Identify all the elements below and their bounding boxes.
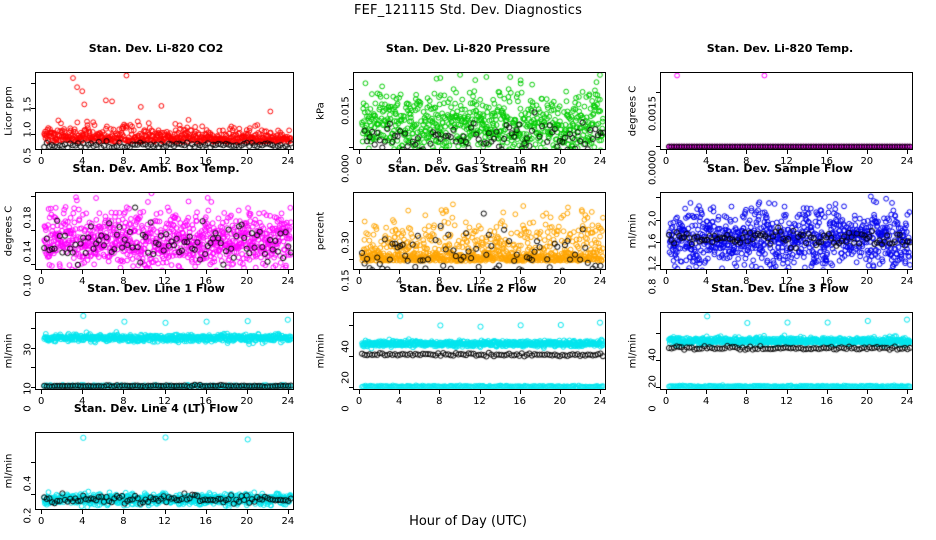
panel-line4-lt-flow: Stan. Dev. Line 4 (LT) Flow048121620240.… xyxy=(0,388,312,508)
y-tick-label: 2.0 xyxy=(648,196,659,240)
x-tick-mark xyxy=(907,390,908,394)
y-axis-label-sample-flow: ml/min xyxy=(628,214,639,249)
x-tick-label: 8 xyxy=(419,396,459,407)
x-tick-label: 24 xyxy=(580,396,620,407)
scatter-points-line4-lt-flow xyxy=(36,433,294,510)
y-axis-label-line1-flow: ml/min xyxy=(4,334,15,369)
panel-li820-co2: Stan. Dev. Li-820 CO2048121620240.51.01.… xyxy=(0,28,312,148)
panel-title-li820-temp: Stan. Dev. Li-820 Temp. xyxy=(624,42,936,55)
x-tick-mark xyxy=(867,390,868,394)
y-tick-label: 0.30 xyxy=(341,220,352,264)
x-tick-mark xyxy=(600,390,601,394)
panel-title-line1-flow: Stan. Dev. Line 1 Flow xyxy=(0,282,312,295)
panel-amb-box-temp: Stan. Dev. Amb. Box Temp.048121620240.10… xyxy=(0,148,312,268)
y-tick-label: 40 xyxy=(341,325,352,369)
plot-area-line2-flow xyxy=(353,312,606,390)
panel-title-li820-pressure: Stan. Dev. Li-820 Pressure xyxy=(312,42,624,55)
x-tick-mark xyxy=(706,390,707,394)
panel-title-line3-flow: Stan. Dev. Line 3 Flow xyxy=(624,282,936,295)
x-tick-label: 4 xyxy=(686,396,726,407)
x-tick-mark xyxy=(399,390,400,394)
x-tick-mark xyxy=(787,390,788,394)
figure-title: FEF_121115 Std. Dev. Diagnostics xyxy=(0,3,936,18)
panel-title-line2-flow: Stan. Dev. Line 2 Flow xyxy=(312,282,624,295)
scatter-points-amb-box-temp xyxy=(36,193,294,270)
panel-line2-flow: Stan. Dev. Line 2 Flow0481216202402040ml… xyxy=(312,268,624,388)
panel-line1-flow: Stan. Dev. Line 1 Flow0481216202401030ml… xyxy=(0,268,312,388)
plot-area-amb-box-temp xyxy=(35,192,294,270)
x-tick-label: 20 xyxy=(847,396,887,407)
y-tick-label: 1.5 xyxy=(23,83,34,127)
y-axis-label-amb-box-temp: degrees C xyxy=(4,206,15,256)
y-tick-label: 0.0015 xyxy=(648,91,659,135)
y-axis-label-line4-lt-flow: ml/min xyxy=(4,454,15,489)
y-axis-label-gas-stream-rh: percent xyxy=(316,212,327,250)
x-tick-mark xyxy=(359,390,360,394)
plot-area-li820-pressure xyxy=(353,72,606,150)
plot-area-li820-temp xyxy=(660,72,913,150)
x-tick-label: 16 xyxy=(807,396,847,407)
x-tick-mark xyxy=(439,390,440,394)
x-tick-label: 20 xyxy=(540,396,580,407)
y-tick-label: 0.4 xyxy=(23,461,34,505)
y-axis-label-li820-pressure: kPa xyxy=(316,102,327,120)
plot-area-line3-flow xyxy=(660,312,913,390)
y-axis-label-line2-flow: ml/min xyxy=(316,334,327,369)
x-tick-label: 24 xyxy=(887,396,927,407)
y-tick-label: 30 xyxy=(23,328,34,372)
y-tick-label: 0.015 xyxy=(341,89,352,133)
y-axis-label-li820-temp: degrees C xyxy=(628,86,639,136)
x-tick-mark xyxy=(520,390,521,394)
figure-canvas: FEF_121115 Std. Dev. Diagnostics Stan. D… xyxy=(0,0,936,540)
x-tick-mark xyxy=(480,390,481,394)
x-tick-label: 16 xyxy=(500,396,540,407)
panel-li820-pressure: Stan. Dev. Li-820 Pressure048121620240.0… xyxy=(312,28,624,148)
scatter-points-gas-stream-rh xyxy=(354,193,606,270)
x-tick-label: 4 xyxy=(379,396,419,407)
panel-title-amb-box-temp: Stan. Dev. Amb. Box Temp. xyxy=(0,162,312,175)
scatter-points-line3-flow xyxy=(661,313,913,390)
panel-title-line4-lt-flow: Stan. Dev. Line 4 (LT) Flow xyxy=(0,402,312,415)
panel-title-sample-flow: Stan. Dev. Sample Flow xyxy=(624,162,936,175)
panel-sample-flow: Stan. Dev. Sample Flow048121620240.81.21… xyxy=(624,148,936,268)
scatter-points-line2-flow xyxy=(354,313,606,390)
scatter-points-li820-pressure xyxy=(354,73,606,150)
x-tick-label: 8 xyxy=(726,396,766,407)
plot-area-line1-flow xyxy=(35,312,294,390)
x-tick-mark xyxy=(746,390,747,394)
scatter-points-li820-co2 xyxy=(36,73,294,150)
plot-area-li820-co2 xyxy=(35,72,294,150)
panel-li820-temp: Stan. Dev. Li-820 Temp.048121620240.0000… xyxy=(624,28,936,148)
plot-area-gas-stream-rh xyxy=(353,192,606,270)
x-tick-mark xyxy=(666,390,667,394)
panel-gas-stream-rh: Stan. Dev. Gas Stream RH048121620240.150… xyxy=(312,148,624,268)
y-axis-label-line3-flow: ml/min xyxy=(628,334,639,369)
x-tick-mark xyxy=(560,390,561,394)
y-tick-label: 40 xyxy=(648,333,659,377)
scatter-points-sample-flow xyxy=(661,193,913,270)
y-axis-label-li820-co2: Licor ppm xyxy=(4,86,15,136)
figure-xlabel: Hour of Day (UTC) xyxy=(0,514,936,529)
x-tick-mark xyxy=(827,390,828,394)
x-tick-label: 12 xyxy=(767,396,807,407)
panel-line3-flow: Stan. Dev. Line 3 Flow0481216202402040ml… xyxy=(624,268,936,388)
plot-area-line4-lt-flow xyxy=(35,432,294,510)
x-tick-label: 12 xyxy=(460,396,500,407)
y-tick-label: 0.18 xyxy=(23,196,34,240)
scatter-points-li820-temp xyxy=(661,73,913,150)
scatter-points-line1-flow xyxy=(36,313,294,390)
panel-title-li820-co2: Stan. Dev. Li-820 CO2 xyxy=(0,42,312,55)
plot-area-sample-flow xyxy=(660,192,913,270)
panel-title-gas-stream-rh: Stan. Dev. Gas Stream RH xyxy=(312,162,624,175)
